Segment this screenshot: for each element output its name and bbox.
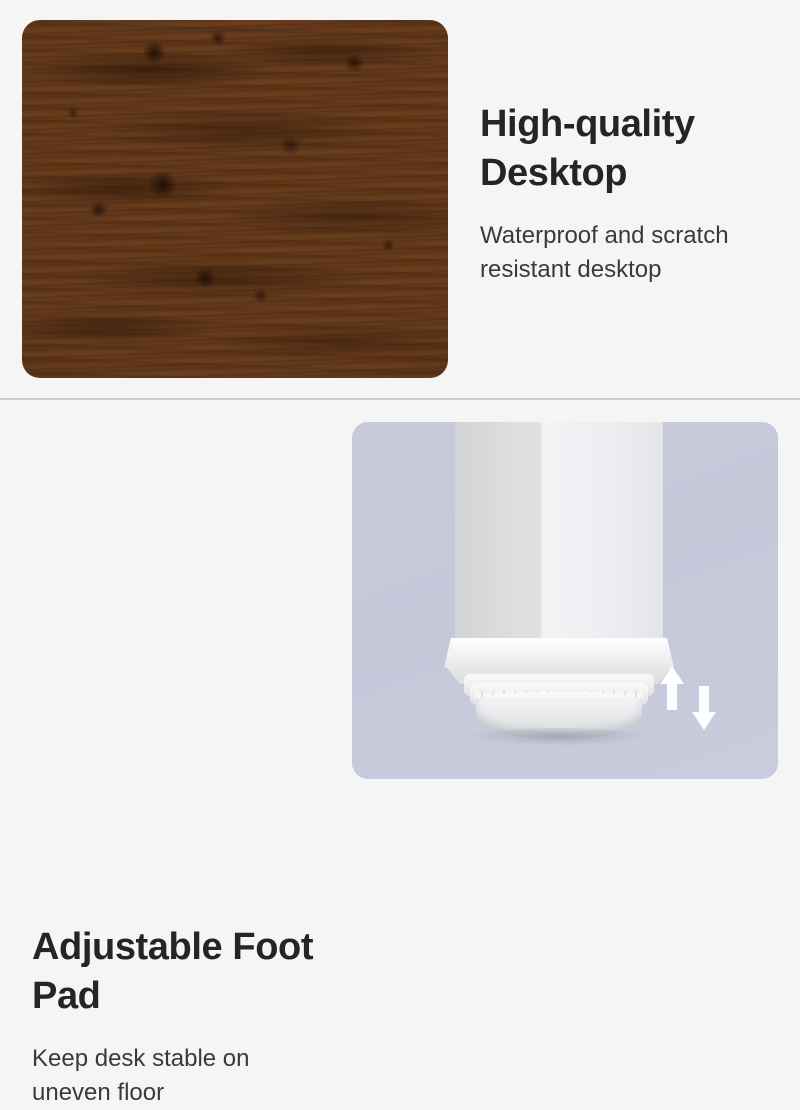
desk-leg-face-right (543, 422, 663, 650)
feature-section-foot-pad: Adjustable Foot Pad Keep desk stable on … (0, 401, 800, 800)
desk-leg-edge (541, 422, 544, 650)
wood-vignette-layer (22, 20, 448, 378)
wood-desktop-texture-photo (22, 20, 448, 378)
feature-text-desktop: High-quality Desktop Waterproof and scra… (480, 100, 780, 287)
feature-section-desktop: High-quality Desktop Waterproof and scra… (0, 0, 800, 399)
feature-description-desktop: Waterproof and scratch resistant desktop (480, 219, 780, 287)
section-divider (0, 398, 800, 400)
desk-leg-column (455, 422, 663, 650)
up-down-arrows-icon (658, 660, 718, 736)
feature-title-desktop-line1: High-quality (480, 103, 695, 145)
foot-pad-contact-shadow (470, 728, 648, 746)
adjustable-foot-pad-photo (352, 422, 778, 779)
feature-title-foot-pad-line2: Pad (32, 975, 101, 1017)
product-feature-page: High-quality Desktop Waterproof and scra… (0, 0, 800, 800)
feature-description-foot-pad-line1: Keep desk stable on (32, 1045, 250, 1072)
feature-text-foot-pad: Adjustable Foot Pad Keep desk stable on … (32, 923, 332, 1110)
feature-description-desktop-line2: resistant desktop (480, 256, 661, 283)
feature-title-desktop-line2: Desktop (480, 152, 627, 194)
flange-highlight (450, 639, 668, 646)
feature-title-foot-pad-line1: Adjustable Foot (32, 926, 313, 968)
desk-leg-face-left (455, 422, 543, 650)
feature-description-foot-pad: Keep desk stable on uneven floor (32, 1042, 332, 1110)
feature-title-foot-pad: Adjustable Foot Pad (32, 923, 332, 1020)
feature-title-desktop: High-quality Desktop (480, 100, 780, 197)
feature-description-foot-pad-line2: uneven floor (32, 1079, 164, 1106)
feature-description-desktop-line1: Waterproof and scratch (480, 222, 729, 249)
